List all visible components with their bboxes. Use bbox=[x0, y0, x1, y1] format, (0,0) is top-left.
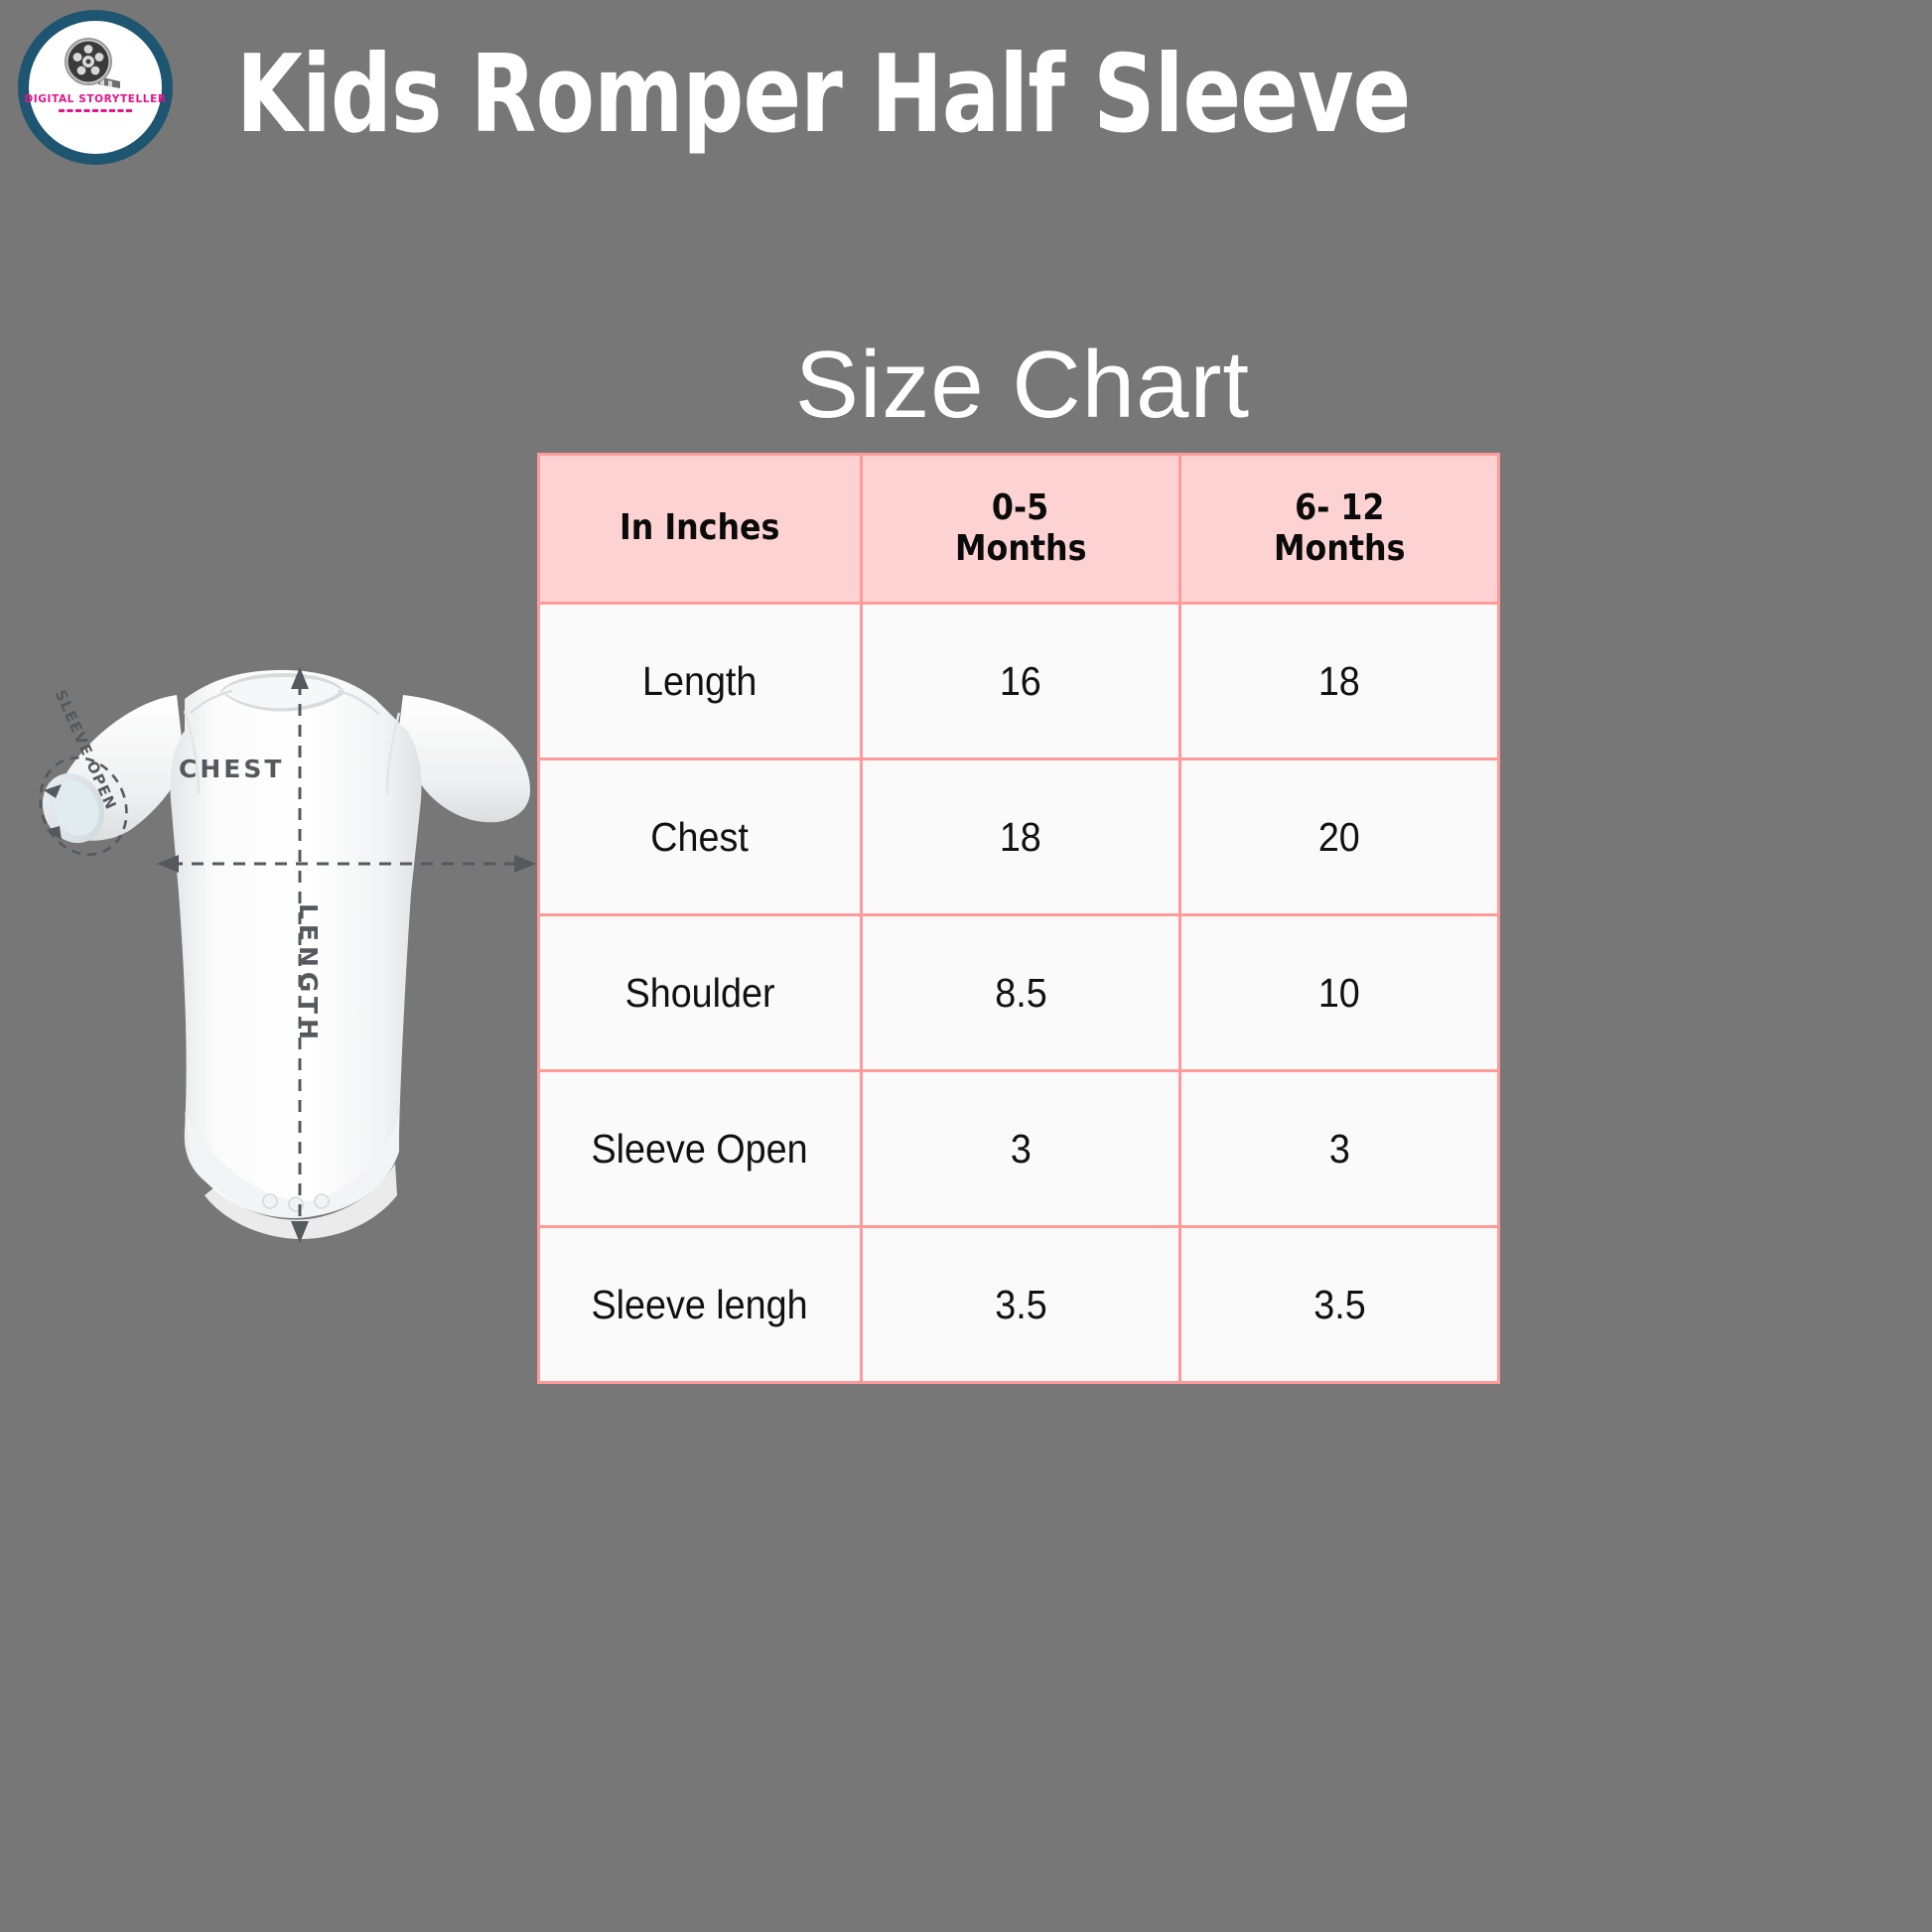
table-header-row: In Inches 0-5 Months 6- 12 Months bbox=[539, 455, 1499, 604]
column-header-0-5-months: 0-5 Months bbox=[862, 455, 1180, 604]
table-row: Sleeve lengh 3.5 3.5 bbox=[539, 1227, 1499, 1383]
column-header-6-12-months-line1: 6- 12 bbox=[1295, 488, 1384, 528]
table-row: Sleeve Open 3 3 bbox=[539, 1071, 1499, 1227]
page-title: Kids Romper Half Sleeve bbox=[236, 42, 1410, 149]
cell-text: 3.5 bbox=[1313, 1282, 1365, 1328]
cell-sleeve-open-0-5: 3 bbox=[862, 1071, 1180, 1227]
table-row: Length 16 18 bbox=[539, 604, 1499, 759]
column-header-0-5-months-line1: 0-5 bbox=[992, 488, 1048, 528]
cell-chest-6-12: 20 bbox=[1180, 759, 1499, 915]
size-chart-heading: Size Chart bbox=[541, 338, 1504, 433]
cell-sleeve-length-0-5: 3.5 bbox=[862, 1227, 1180, 1383]
row-label-chest: Chest bbox=[539, 759, 862, 915]
row-label-sleeve-open: Sleeve Open bbox=[539, 1071, 862, 1227]
cell-text: 18 bbox=[1000, 814, 1041, 861]
cell-text: Sleeve Open bbox=[592, 1126, 808, 1173]
column-header-measurement-text: In Inches bbox=[620, 508, 779, 548]
chest-measure-label: CHEST bbox=[179, 755, 284, 783]
table-body: Length 16 18 Chest 18 20 Shoulder 8.5 10… bbox=[539, 604, 1499, 1383]
cell-sleeve-length-6-12: 3.5 bbox=[1180, 1227, 1499, 1383]
column-header-6-12-months-line2: Months bbox=[1274, 529, 1405, 569]
cell-text: 3 bbox=[1011, 1126, 1032, 1173]
column-header-6-12-months: 6- 12 Months bbox=[1180, 455, 1499, 604]
brand-logo-badge: DIGITAL STORYTELLER bbox=[18, 10, 173, 165]
cell-text: 18 bbox=[1318, 658, 1360, 705]
cell-shoulder-6-12: 10 bbox=[1180, 915, 1499, 1071]
cell-text: 3.5 bbox=[995, 1282, 1046, 1328]
cell-text: Chest bbox=[651, 814, 750, 861]
table-row: Shoulder 8.5 10 bbox=[539, 915, 1499, 1071]
cell-text: 3 bbox=[1329, 1126, 1350, 1173]
table-header: In Inches 0-5 Months 6- 12 Months bbox=[539, 455, 1499, 604]
size-chart-table: In Inches 0-5 Months 6- 12 Months Length… bbox=[537, 453, 1500, 1384]
table-row: Chest 18 20 bbox=[539, 759, 1499, 915]
cell-text: Length bbox=[642, 658, 757, 705]
romper-diagram: CHEST LENGTH SLEEVE OPEN bbox=[10, 596, 546, 1271]
column-header-0-5-months-line2: Months bbox=[955, 529, 1086, 569]
cell-length-0-5: 16 bbox=[862, 604, 1180, 759]
row-label-sleeve-length: Sleeve lengh bbox=[539, 1227, 862, 1383]
logo-dash-divider bbox=[59, 109, 132, 112]
cell-chest-0-5: 18 bbox=[862, 759, 1180, 915]
length-measure-label: LENGTH bbox=[294, 903, 323, 1044]
brand-wordmark: DIGITAL STORYTELLER bbox=[24, 94, 166, 105]
cell-text: 8.5 bbox=[995, 970, 1046, 1017]
cell-text: Sleeve lengh bbox=[592, 1282, 808, 1328]
cell-text: 20 bbox=[1318, 814, 1360, 861]
cell-text: Shoulder bbox=[625, 970, 775, 1017]
cell-shoulder-0-5: 8.5 bbox=[862, 915, 1180, 1071]
cell-text: 10 bbox=[1318, 970, 1360, 1017]
cell-sleeve-open-6-12: 3 bbox=[1180, 1071, 1499, 1227]
column-header-measurement: In Inches bbox=[539, 455, 862, 604]
row-label-length: Length bbox=[539, 604, 862, 759]
cell-text: 16 bbox=[1000, 658, 1041, 705]
row-label-shoulder: Shoulder bbox=[539, 915, 862, 1071]
film-reel-icon bbox=[65, 37, 126, 92]
cell-length-6-12: 18 bbox=[1180, 604, 1499, 759]
